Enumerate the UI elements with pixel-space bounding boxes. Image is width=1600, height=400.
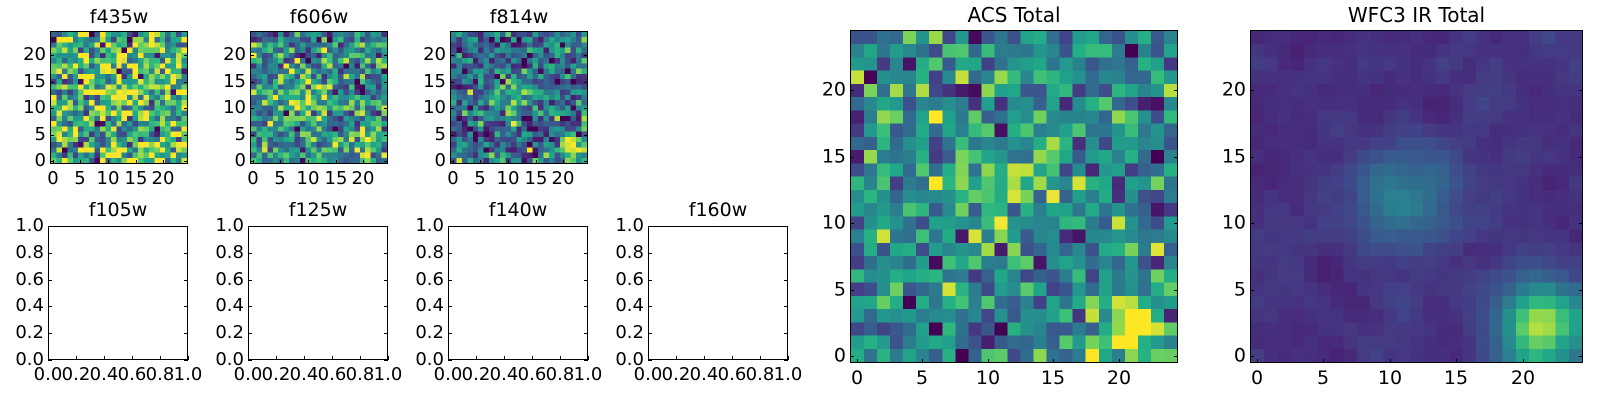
xtick-mark-f814w [536, 160, 537, 164]
ytick-mark-right-f140w [584, 253, 588, 254]
ytick-mark-f814w [450, 108, 454, 109]
ytick-mark-f140w [448, 360, 452, 361]
ytick-label-acs: 15 [804, 148, 846, 167]
ytick-label-f105w: 0.0 [2, 351, 44, 369]
ytick-mark-right-wfc3 [1579, 223, 1583, 224]
ytick-label-f140w: 0.8 [402, 244, 444, 262]
xtick-mark-f606w [280, 160, 281, 164]
xtick-mark-f140w [588, 356, 589, 360]
ytick-label-f105w: 0.8 [2, 244, 44, 262]
ytick-mark-right-f125w [384, 360, 388, 361]
ytick-mark-wfc3 [1250, 223, 1254, 224]
xtick-label-acs: 10 [976, 369, 1000, 388]
xtick-label-f606w: 20 [352, 170, 375, 188]
ytick-mark-right-f435w [184, 55, 188, 56]
xtick-mark-f105w [104, 356, 105, 360]
ytick-label-f160w: 0.6 [602, 271, 644, 289]
ytick-mark-f125w [248, 306, 252, 307]
xtick-label-f105w: 0.8 [146, 366, 175, 384]
figure-canvas: f435w0510152005101520f606w05101520051015… [0, 0, 1600, 400]
ytick-mark-f160w [648, 333, 652, 334]
ytick-mark-right-f160w [784, 280, 788, 281]
xtick-mark-wfc3 [1456, 359, 1457, 363]
ytick-label-f140w: 0.0 [402, 351, 444, 369]
ytick-label-f125w: 0.2 [202, 324, 244, 342]
ytick-label-wfc3: 0 [1204, 347, 1246, 366]
ytick-mark-right-f606w [384, 108, 388, 109]
xtick-mark-f160w [704, 356, 705, 360]
ytick-mark-right-f160w [784, 333, 788, 334]
xtick-label-f125w: 0.6 [318, 366, 347, 384]
panel-title-f105w: f105w [48, 201, 188, 220]
ytick-mark-right-f140w [584, 360, 588, 361]
ytick-mark-right-f606w [384, 55, 388, 56]
axes-f814w [450, 31, 588, 164]
panel-title-f140w: f140w [448, 201, 588, 220]
xtick-label-f435w: 20 [152, 170, 175, 188]
xtick-mark-f160w [732, 356, 733, 360]
ytick-mark-acs [850, 356, 854, 357]
xtick-label-wfc3: 0 [1251, 369, 1263, 388]
ytick-label-f140w: 1.0 [402, 217, 444, 235]
xtick-label-f125w: 0.8 [346, 366, 375, 384]
xtick-label-f435w: 0 [47, 170, 58, 188]
ytick-mark-right-f435w [184, 161, 188, 162]
ytick-mark-right-f125w [384, 226, 388, 227]
heatmap-image-acs [851, 31, 1177, 362]
ytick-label-f814w: 20 [404, 46, 446, 64]
ytick-mark-right-f125w [384, 333, 388, 334]
xtick-mark-f814w [508, 160, 509, 164]
ytick-label-f814w: 0 [404, 152, 446, 170]
xtick-mark-f140w [504, 356, 505, 360]
xtick-mark-f435w [80, 160, 81, 164]
ytick-mark-f105w [48, 333, 52, 334]
ytick-label-f606w: 5 [204, 126, 246, 144]
xtick-label-acs: 5 [916, 369, 928, 388]
ytick-mark-right-f814w [584, 108, 588, 109]
xtick-label-f435w: 10 [97, 170, 120, 188]
xtick-label-f606w: 15 [325, 170, 348, 188]
ytick-label-f814w: 15 [404, 73, 446, 91]
ytick-label-f814w: 10 [404, 99, 446, 117]
ytick-mark-f435w [50, 82, 54, 83]
ytick-mark-right-f105w [184, 253, 188, 254]
panel-title-wfc3: WFC3 IR Total [1250, 5, 1583, 25]
xtick-label-f814w: 15 [525, 170, 548, 188]
xtick-label-f160w: 0.4 [690, 366, 719, 384]
axes-f140w [448, 226, 588, 360]
ytick-mark-right-wfc3 [1579, 356, 1583, 357]
xtick-mark-f160w [788, 356, 789, 360]
ytick-label-f105w: 1.0 [2, 217, 44, 235]
panel-title-f814w: f814w [450, 8, 588, 27]
panel-title-f160w: f160w [648, 201, 788, 220]
panel-title-f125w: f125w [248, 201, 388, 220]
xtick-mark-f140w [532, 356, 533, 360]
ytick-mark-f140w [448, 253, 452, 254]
ytick-label-f606w: 20 [204, 46, 246, 64]
axes-f105w [48, 226, 188, 360]
ytick-mark-f105w [48, 306, 52, 307]
ytick-mark-right-f105w [184, 226, 188, 227]
xtick-mark-acs [988, 359, 989, 363]
ytick-label-f160w: 0.2 [602, 324, 644, 342]
ytick-label-f160w: 0.0 [602, 351, 644, 369]
ytick-label-f125w: 1.0 [202, 217, 244, 235]
ytick-label-wfc3: 20 [1204, 81, 1246, 100]
ytick-mark-right-wfc3 [1579, 157, 1583, 158]
ytick-mark-acs [850, 223, 854, 224]
ytick-mark-right-f125w [384, 306, 388, 307]
ytick-label-f160w: 1.0 [602, 217, 644, 235]
xtick-mark-f435w [108, 160, 109, 164]
xtick-mark-f160w [676, 356, 677, 360]
ytick-mark-f814w [450, 161, 454, 162]
ytick-mark-f606w [250, 135, 254, 136]
xtick-label-f140w: 1.0 [574, 366, 603, 384]
xtick-label-wfc3: 10 [1378, 369, 1402, 388]
ytick-mark-f606w [250, 82, 254, 83]
ytick-label-f140w: 0.2 [402, 324, 444, 342]
ytick-mark-wfc3 [1250, 356, 1254, 357]
xtick-label-f125w: 0.2 [262, 366, 291, 384]
xtick-mark-f105w [188, 356, 189, 360]
ytick-mark-f160w [648, 306, 652, 307]
ytick-label-wfc3: 15 [1204, 148, 1246, 167]
ytick-mark-f160w [648, 253, 652, 254]
xtick-mark-f814w [563, 160, 564, 164]
ytick-mark-wfc3 [1250, 290, 1254, 291]
ytick-mark-right-f160w [784, 360, 788, 361]
xtick-label-f435w: 15 [125, 170, 148, 188]
xtick-mark-f814w [480, 160, 481, 164]
xtick-label-acs: 0 [851, 369, 863, 388]
xtick-label-f160w: 0.6 [718, 366, 747, 384]
xtick-label-f105w: 0.4 [90, 366, 119, 384]
ytick-mark-right-acs [1174, 223, 1178, 224]
ytick-mark-f140w [448, 306, 452, 307]
ytick-mark-right-f160w [784, 306, 788, 307]
ytick-mark-right-f435w [184, 108, 188, 109]
xtick-mark-f105w [132, 356, 133, 360]
ytick-mark-f140w [448, 280, 452, 281]
ytick-mark-f140w [448, 333, 452, 334]
ytick-mark-right-f105w [184, 333, 188, 334]
xtick-mark-wfc3 [1323, 359, 1324, 363]
ytick-mark-f606w [250, 55, 254, 56]
xtick-label-f160w: 1.0 [774, 366, 803, 384]
ytick-mark-right-f160w [784, 226, 788, 227]
xtick-label-f140w: 0.8 [546, 366, 575, 384]
ytick-mark-right-f105w [184, 360, 188, 361]
ytick-mark-f125w [248, 280, 252, 281]
xtick-mark-f125w [276, 356, 277, 360]
xtick-mark-f125w [304, 356, 305, 360]
ytick-mark-acs [850, 290, 854, 291]
ytick-label-f140w: 0.6 [402, 271, 444, 289]
axes-f435w [50, 31, 188, 164]
xtick-label-f140w: 0.2 [462, 366, 491, 384]
ytick-label-f105w: 0.2 [2, 324, 44, 342]
ytick-label-f435w: 5 [4, 126, 46, 144]
ytick-mark-right-f814w [584, 55, 588, 56]
ytick-label-f125w: 0.8 [202, 244, 244, 262]
axes-f606w [250, 31, 388, 164]
ytick-mark-right-acs [1174, 157, 1178, 158]
xtick-label-f140w: 0.6 [518, 366, 547, 384]
xtick-mark-wfc3 [1257, 359, 1258, 363]
xtick-label-wfc3: 15 [1444, 369, 1468, 388]
ytick-mark-right-wfc3 [1579, 290, 1583, 291]
xtick-label-f105w: 1.0 [174, 366, 203, 384]
xtick-label-wfc3: 20 [1511, 369, 1535, 388]
axes-acs [850, 30, 1178, 363]
xtick-label-f105w: 0.2 [62, 366, 91, 384]
xtick-mark-f105w [76, 356, 77, 360]
ytick-mark-right-wfc3 [1579, 90, 1583, 91]
ytick-label-f435w: 20 [4, 46, 46, 64]
ytick-label-f160w: 0.8 [602, 244, 644, 262]
ytick-mark-f814w [450, 82, 454, 83]
axes-f160w [648, 226, 788, 360]
ytick-mark-right-f435w [184, 82, 188, 83]
xtick-label-f606w: 0 [247, 170, 258, 188]
panel-title-acs: ACS Total [850, 5, 1178, 25]
xtick-label-f125w: 1.0 [374, 366, 403, 384]
xtick-label-f814w: 10 [497, 170, 520, 188]
ytick-mark-wfc3 [1250, 90, 1254, 91]
ytick-mark-f105w [48, 253, 52, 254]
ytick-mark-right-f606w [384, 135, 388, 136]
xtick-label-f814w: 20 [552, 170, 575, 188]
ytick-mark-right-acs [1174, 290, 1178, 291]
xtick-mark-f606w [336, 160, 337, 164]
xtick-label-f105w: 0.6 [118, 366, 147, 384]
ytick-label-f606w: 15 [204, 73, 246, 91]
ytick-mark-f140w [448, 226, 452, 227]
ytick-label-acs: 0 [804, 347, 846, 366]
xtick-mark-wfc3 [1523, 359, 1524, 363]
xtick-label-f814w: 0 [447, 170, 458, 188]
heatmap-image-wfc3 [1251, 31, 1582, 362]
xtick-label-acs: 20 [1107, 369, 1131, 388]
xtick-label-f125w: 0.4 [290, 366, 319, 384]
xtick-label-f606w: 5 [274, 170, 285, 188]
heatmap-image-f814w [451, 32, 587, 163]
ytick-label-f105w: 0.6 [2, 271, 44, 289]
ytick-mark-f435w [50, 135, 54, 136]
ytick-label-acs: 10 [804, 214, 846, 233]
ytick-mark-f435w [50, 108, 54, 109]
ytick-label-f435w: 15 [4, 73, 46, 91]
ytick-label-wfc3: 5 [1204, 281, 1246, 300]
ytick-label-f125w: 0.4 [202, 297, 244, 315]
ytick-label-f435w: 0 [4, 152, 46, 170]
ytick-mark-right-f140w [584, 280, 588, 281]
ytick-label-f105w: 0.4 [2, 297, 44, 315]
xtick-mark-f435w [136, 160, 137, 164]
ytick-mark-right-f105w [184, 280, 188, 281]
ytick-label-f606w: 10 [204, 99, 246, 117]
ytick-mark-right-f606w [384, 161, 388, 162]
xtick-label-f435w: 5 [74, 170, 85, 188]
ytick-mark-f160w [648, 280, 652, 281]
xtick-label-f160w: 0.2 [662, 366, 691, 384]
xtick-mark-f125w [360, 356, 361, 360]
xtick-mark-f140w [476, 356, 477, 360]
xtick-mark-f125w [332, 356, 333, 360]
ytick-mark-f606w [250, 161, 254, 162]
heatmap-image-f606w [251, 32, 387, 163]
xtick-label-f160w: 0.8 [746, 366, 775, 384]
xtick-mark-f160w [760, 356, 761, 360]
ytick-mark-acs [850, 157, 854, 158]
ytick-mark-acs [850, 90, 854, 91]
ytick-mark-right-f435w [184, 135, 188, 136]
panel-title-f606w: f606w [250, 8, 388, 27]
xtick-mark-acs [1053, 359, 1054, 363]
ytick-mark-right-f140w [584, 226, 588, 227]
ytick-mark-right-f125w [384, 253, 388, 254]
xtick-mark-f606w [363, 160, 364, 164]
ytick-mark-right-f105w [184, 306, 188, 307]
ytick-mark-right-acs [1174, 90, 1178, 91]
ytick-mark-right-f814w [584, 135, 588, 136]
ytick-mark-f814w [450, 135, 454, 136]
ytick-mark-right-f814w [584, 161, 588, 162]
xtick-label-wfc3: 5 [1317, 369, 1329, 388]
ytick-mark-f814w [450, 55, 454, 56]
heatmap-image-f435w [51, 32, 187, 163]
ytick-mark-wfc3 [1250, 157, 1254, 158]
ytick-label-f160w: 0.4 [602, 297, 644, 315]
xtick-mark-wfc3 [1390, 359, 1391, 363]
xtick-label-f814w: 5 [474, 170, 485, 188]
ytick-label-f140w: 0.4 [402, 297, 444, 315]
ytick-mark-right-f606w [384, 82, 388, 83]
ytick-label-f606w: 0 [204, 152, 246, 170]
xtick-mark-f125w [388, 356, 389, 360]
xtick-label-f606w: 10 [297, 170, 320, 188]
ytick-mark-f435w [50, 161, 54, 162]
ytick-mark-f160w [648, 226, 652, 227]
ytick-mark-f435w [50, 55, 54, 56]
ytick-label-acs: 20 [804, 81, 846, 100]
xtick-mark-acs [857, 359, 858, 363]
ytick-mark-f125w [248, 333, 252, 334]
xtick-label-f140w: 0.4 [490, 366, 519, 384]
ytick-mark-right-f160w [784, 253, 788, 254]
ytick-mark-f105w [48, 280, 52, 281]
ytick-mark-f125w [248, 253, 252, 254]
ytick-mark-right-f814w [584, 82, 588, 83]
ytick-mark-f105w [48, 226, 52, 227]
xtick-mark-acs [1119, 359, 1120, 363]
ytick-label-f435w: 10 [4, 99, 46, 117]
ytick-label-f125w: 0.0 [202, 351, 244, 369]
ytick-mark-f160w [648, 360, 652, 361]
ytick-mark-right-f140w [584, 333, 588, 334]
xtick-mark-f606w [308, 160, 309, 164]
xtick-mark-f105w [160, 356, 161, 360]
ytick-label-wfc3: 10 [1204, 214, 1246, 233]
axes-wfc3 [1250, 30, 1583, 363]
ytick-mark-right-acs [1174, 356, 1178, 357]
xtick-mark-f435w [163, 160, 164, 164]
xtick-mark-acs [922, 359, 923, 363]
ytick-label-f125w: 0.6 [202, 271, 244, 289]
ytick-mark-f125w [248, 360, 252, 361]
ytick-mark-f606w [250, 108, 254, 109]
ytick-mark-f105w [48, 360, 52, 361]
ytick-mark-f125w [248, 226, 252, 227]
ytick-mark-right-f125w [384, 280, 388, 281]
ytick-label-acs: 5 [804, 281, 846, 300]
ytick-mark-right-f140w [584, 306, 588, 307]
ytick-label-f814w: 5 [404, 126, 446, 144]
panel-title-f435w: f435w [50, 8, 188, 27]
xtick-mark-f140w [560, 356, 561, 360]
xtick-label-acs: 15 [1041, 369, 1065, 388]
axes-f125w [248, 226, 388, 360]
